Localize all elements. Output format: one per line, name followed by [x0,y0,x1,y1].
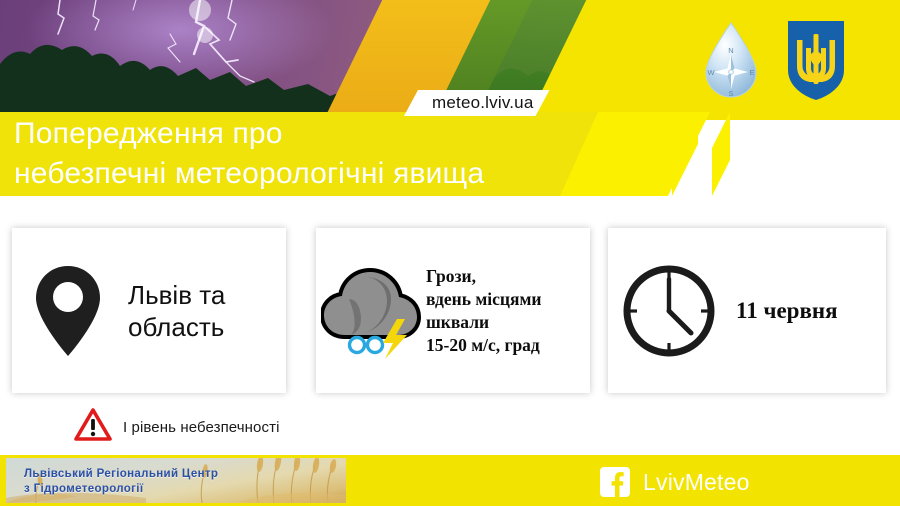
thunderstorm-hail-cloud-icon [316,263,426,359]
logo-text: Львівський Регіональний Центр з Гідромет… [24,467,218,497]
compass-east-label: E [749,68,754,77]
danger-level-row: I рівень небезпечності [74,408,280,446]
warning-triangle-icon [74,408,112,446]
danger-level-label: I рівень небезпечності [123,419,280,436]
footer-bar: Львівський Регіональний Центр з Гідромет… [0,455,900,506]
location-card: Львів та область [12,228,286,393]
clock-icon [608,261,730,361]
water-drop-compass-icon: N E S W [700,20,762,105]
facebook-link[interactable]: LvivMeteo [600,467,750,497]
date-text-wrap: 11 червня [730,298,886,324]
weather-text-wrap: Грози, вдень місцями шквали 15-20 м/с, г… [426,265,590,357]
hail-stones [350,337,383,352]
location-label: Львів та область [124,279,286,343]
compass-west-label: W [707,68,715,77]
date-label: 11 червня [730,298,886,324]
date-card: 11 червня [608,228,886,393]
ukraine-trident-icon [785,18,847,107]
hydrometeorology-center-logo[interactable]: Львівський Регіональний Центр з Гідромет… [6,458,346,503]
compass-south-label: S [728,89,733,98]
website-url-badge[interactable]: meteo.lviv.ua [404,90,550,116]
page-title: Попередження про небезпечні метеорологіч… [14,114,484,194]
weather-card: Грози, вдень місцями шквали 15-20 м/с, г… [316,228,590,393]
facebook-label: LvivMeteo [643,469,750,496]
location-text-wrap: Львів та область [124,279,286,343]
weather-warning-infographic: meteo.lviv.ua Попередження про небезпечн… [0,0,900,506]
info-cards-row: Львів та область [0,228,900,393]
facebook-icon [600,467,630,497]
weather-description: Грози, вдень місцями шквали 15-20 м/с, г… [426,265,590,357]
map-pin-icon [12,264,124,358]
diagonal-stripe-2 [712,112,730,196]
compass-north-label: N [728,46,733,55]
